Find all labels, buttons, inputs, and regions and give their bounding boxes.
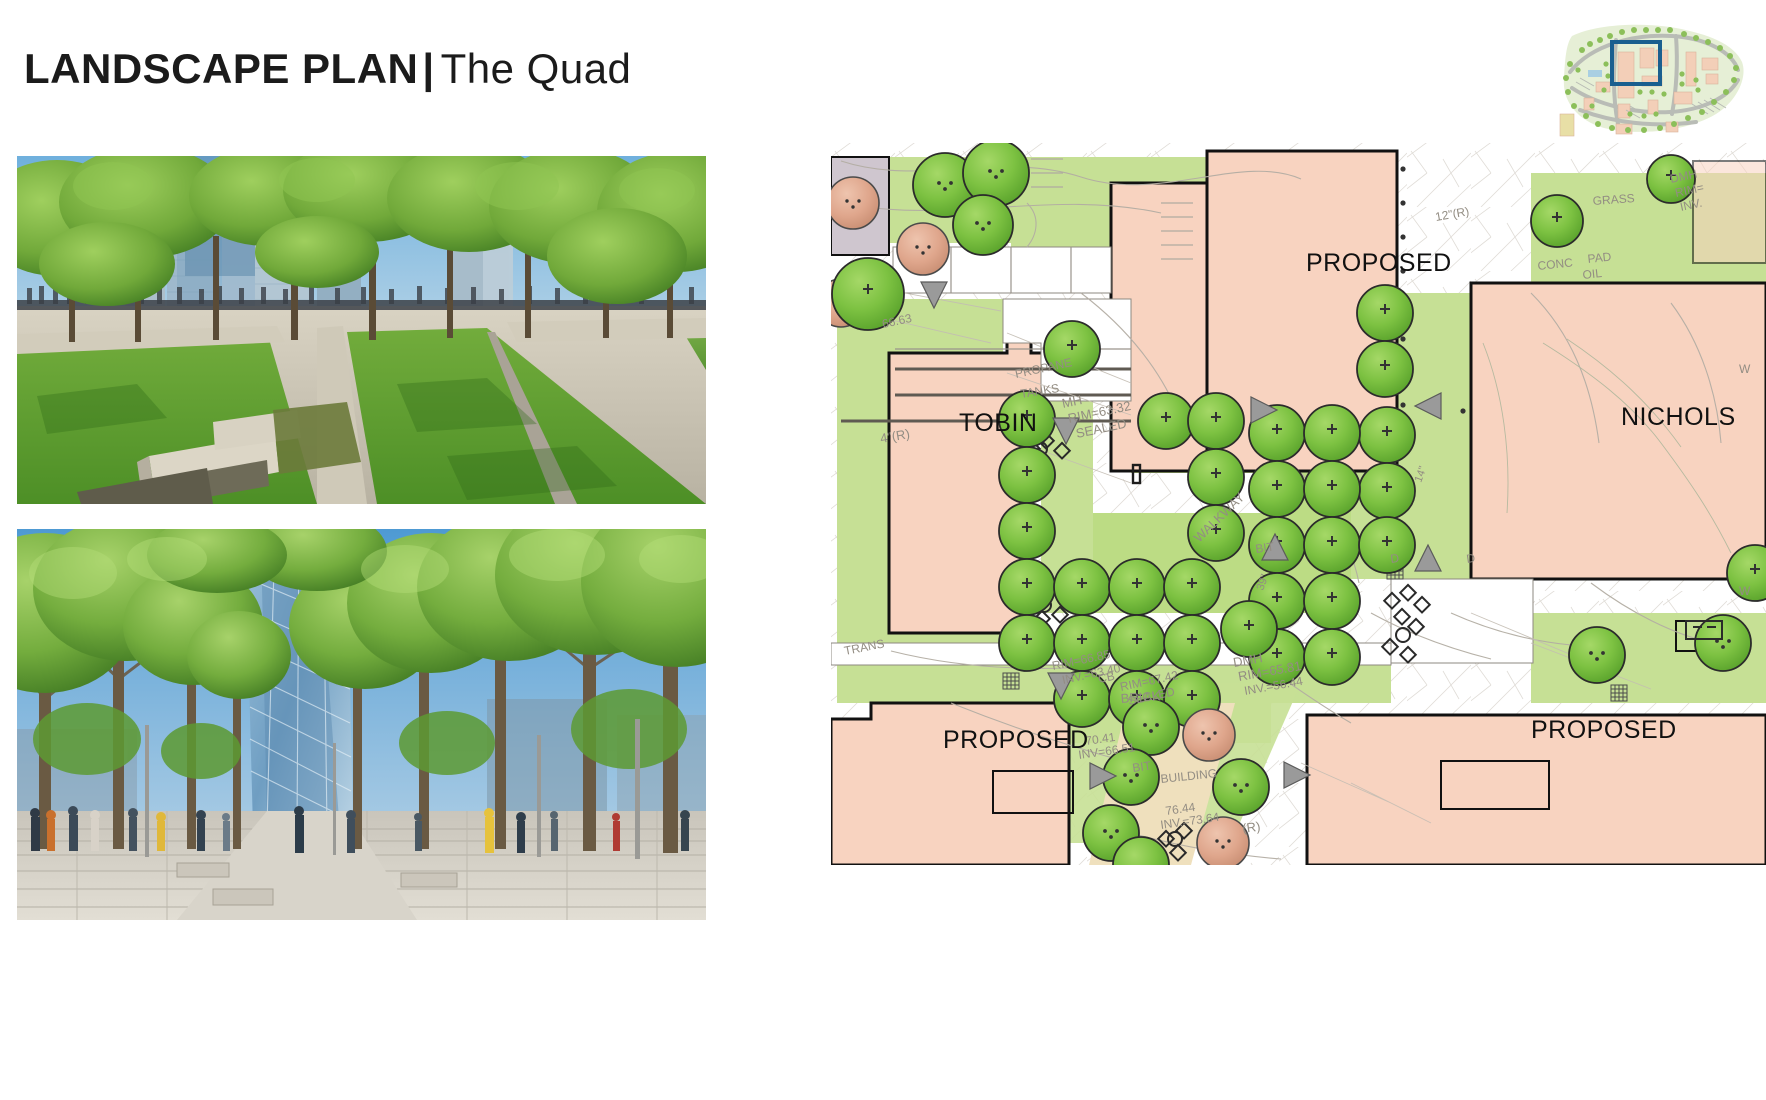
survey-note-text: PAD [1587,250,1612,266]
survey-note-text: BIT [1131,758,1152,775]
memorial-plaza-lawn-photo [17,156,706,504]
survey-note-text: W [1739,362,1751,376]
page-title-light: The Quad [441,45,632,92]
plan-building-label: PROPOSED [943,726,1089,754]
campus-key-map[interactable] [1556,18,1756,140]
survey-note-text: (R) [1241,819,1261,836]
plan-building-label: PROPOSED [1306,249,1452,277]
page-title-bold: LANDSCAPE PLAN [24,45,418,92]
page-title-separator: | [422,45,434,92]
plan-building-label: TOBIN [959,409,1037,437]
slide-root: LANDSCAPE PLAN|The Quad [0,0,1766,1100]
page-title: LANDSCAPE PLAN|The Quad [24,48,631,90]
plan-building-label: NICHOLS [1621,403,1736,431]
landscape-site-plan: MHRIM=63.32SEALEDRIM=66.85INV.=63.4066.6… [831,143,1766,865]
survey-note-text: GRASS [1592,191,1635,208]
tree-allee-promenade-photo [17,529,706,920]
survey-note-text: BIT [1254,539,1275,556]
plan-building-label: PROPOSED [1531,716,1677,744]
survey-note-text: OIL [1582,266,1603,282]
survey-note-text: W [1739,584,1751,598]
